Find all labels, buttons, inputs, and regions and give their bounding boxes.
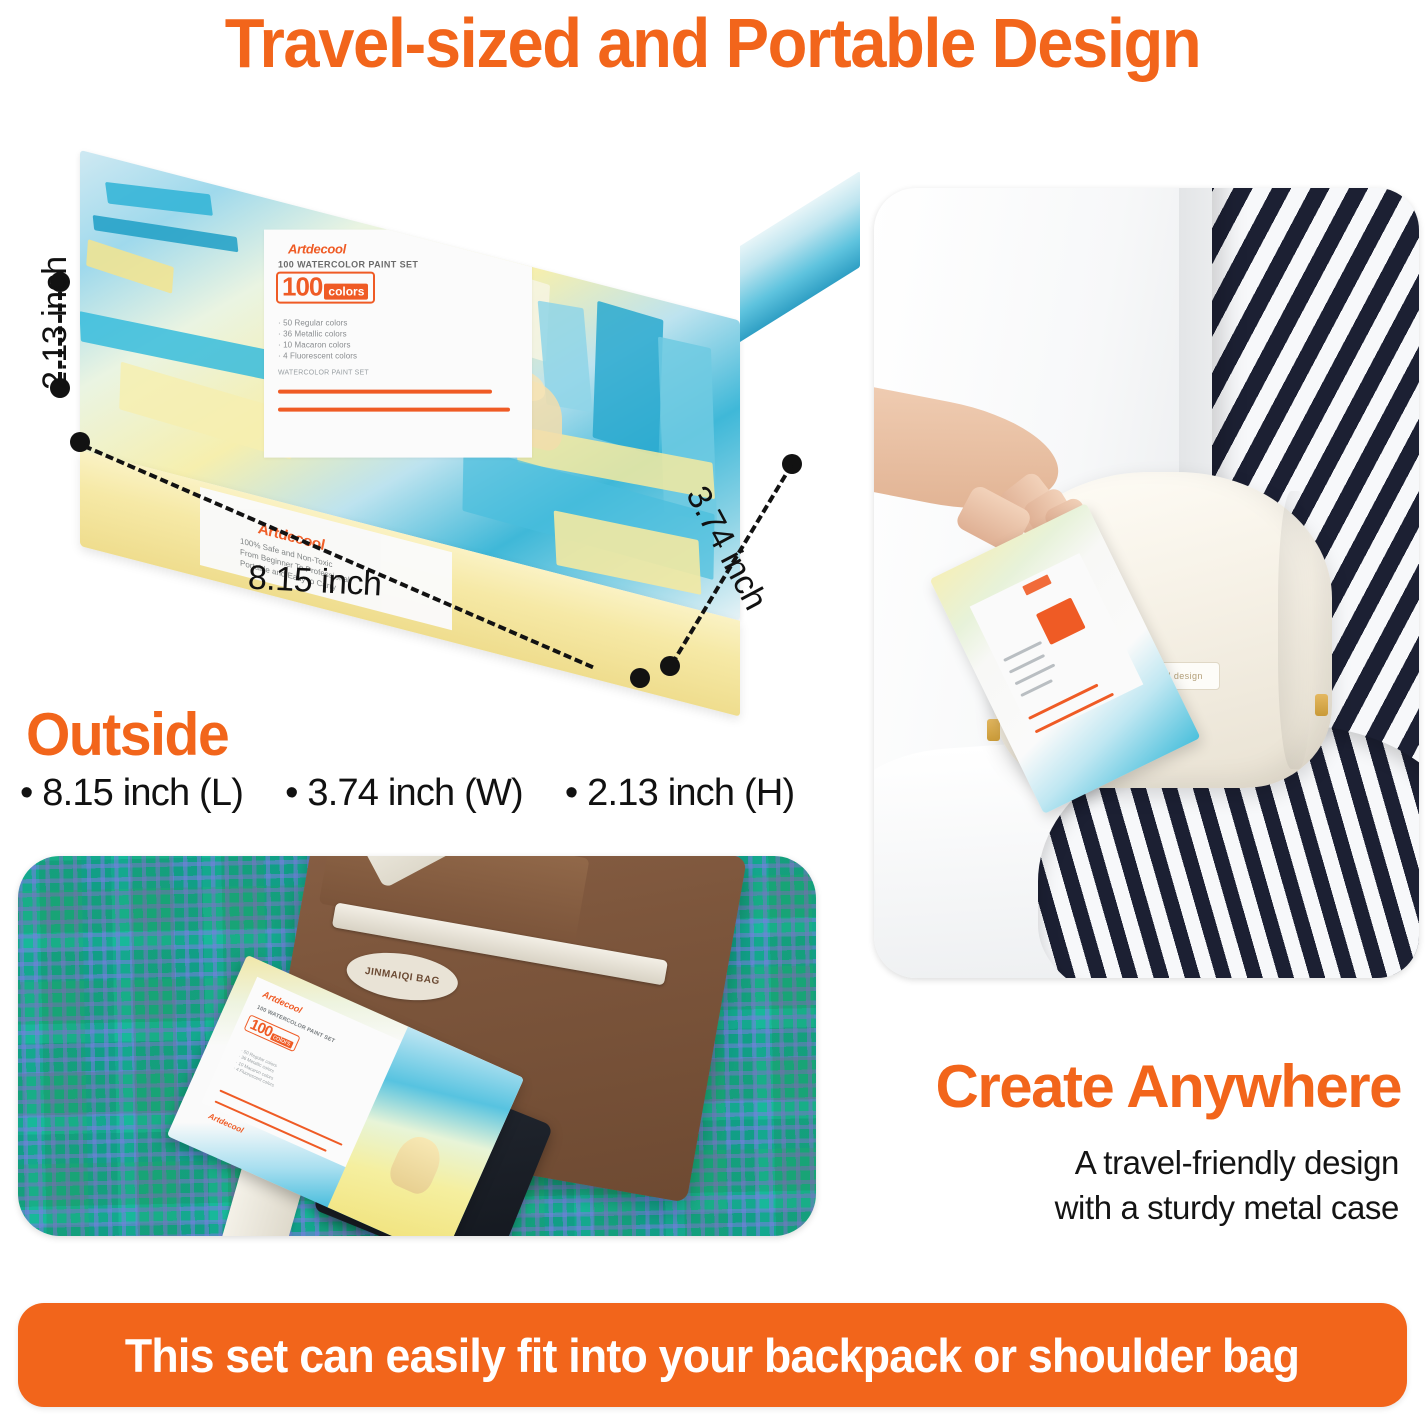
- box-rule-2: [278, 408, 510, 412]
- create-anywhere-heading: Create Anywhere: [936, 1052, 1401, 1121]
- product-box-3d: Artdecool 100 WATERCOLOR PAINT SET 100 c…: [80, 150, 780, 660]
- backpack-brand-patch: JINMAIQI BAG: [344, 946, 461, 1007]
- badge-number: 100: [282, 275, 322, 299]
- photo-box-in-backpack-on-plaid: JINMAIQIBAG ORIGINAL DESIGN JINMAIQI BAG…: [18, 856, 816, 1236]
- list-item: • 2.13 inch (H): [565, 772, 794, 815]
- bag-seam: [1278, 491, 1312, 769]
- mini-label-panel: [969, 552, 1143, 737]
- box-dimension-diagram: Artdecool 100 WATERCOLOR PAINT SET 100 c…: [0, 120, 860, 690]
- list-item: • 3.74 inch (W): [285, 772, 523, 815]
- zipper-pull-right: [1315, 694, 1328, 716]
- box-rule-1: [278, 390, 492, 394]
- subtitle-line-1: A travel-friendly design: [1055, 1140, 1399, 1185]
- bottom-banner-text: This set can easily fit into your backpa…: [125, 1328, 1299, 1383]
- box-side-face: [740, 171, 860, 342]
- photo-hand-placing-box-in-bag: travel design: [874, 188, 1419, 978]
- create-anywhere-subtitle: A travel-friendly design with a sturdy m…: [1055, 1140, 1399, 1230]
- dim-label-length: 8.15 inch: [247, 559, 382, 605]
- page-title: Travel-sized and Portable Design: [50, 4, 1375, 82]
- subtitle-line-2: with a sturdy metal case: [1055, 1185, 1399, 1230]
- bottom-banner: This set can easily fit into your backpa…: [18, 1303, 1407, 1407]
- list-item: · 50 Regular colors: [278, 318, 357, 329]
- dim-label-height: 2.13 inch: [36, 257, 75, 391]
- color-count-badge: 100 colors: [276, 272, 375, 304]
- list-item: · 10 Macaron colors: [278, 340, 357, 351]
- badge-word: colors: [324, 284, 368, 300]
- list-item: · 36 Metallic colors: [278, 329, 357, 340]
- outside-dimension-list: • 8.15 inch (L) • 3.74 inch (W) • 2.13 i…: [20, 772, 850, 815]
- list-item: • 8.15 inch (L): [20, 772, 243, 815]
- zipper-pull-left: [987, 719, 1000, 741]
- outside-heading: Outside: [26, 700, 228, 769]
- infographic-page: Travel-sized and Portable Design: [0, 0, 1425, 1416]
- dim-dot-length-right: [630, 668, 650, 688]
- box-brand-logo: Artdecool: [288, 242, 346, 257]
- box-footer-line: WATERCOLOR PAINT SET: [278, 370, 369, 377]
- box-bullet-list: · 50 Regular colors · 36 Metallic colors…: [278, 318, 357, 362]
- box-label-panel: Artdecool 100 WATERCOLOR PAINT SET 100 c…: [264, 230, 532, 458]
- box-subtitle: 100 WATERCOLOR PAINT SET: [278, 260, 418, 270]
- list-item: · 4 Fluorescent colors: [278, 351, 357, 362]
